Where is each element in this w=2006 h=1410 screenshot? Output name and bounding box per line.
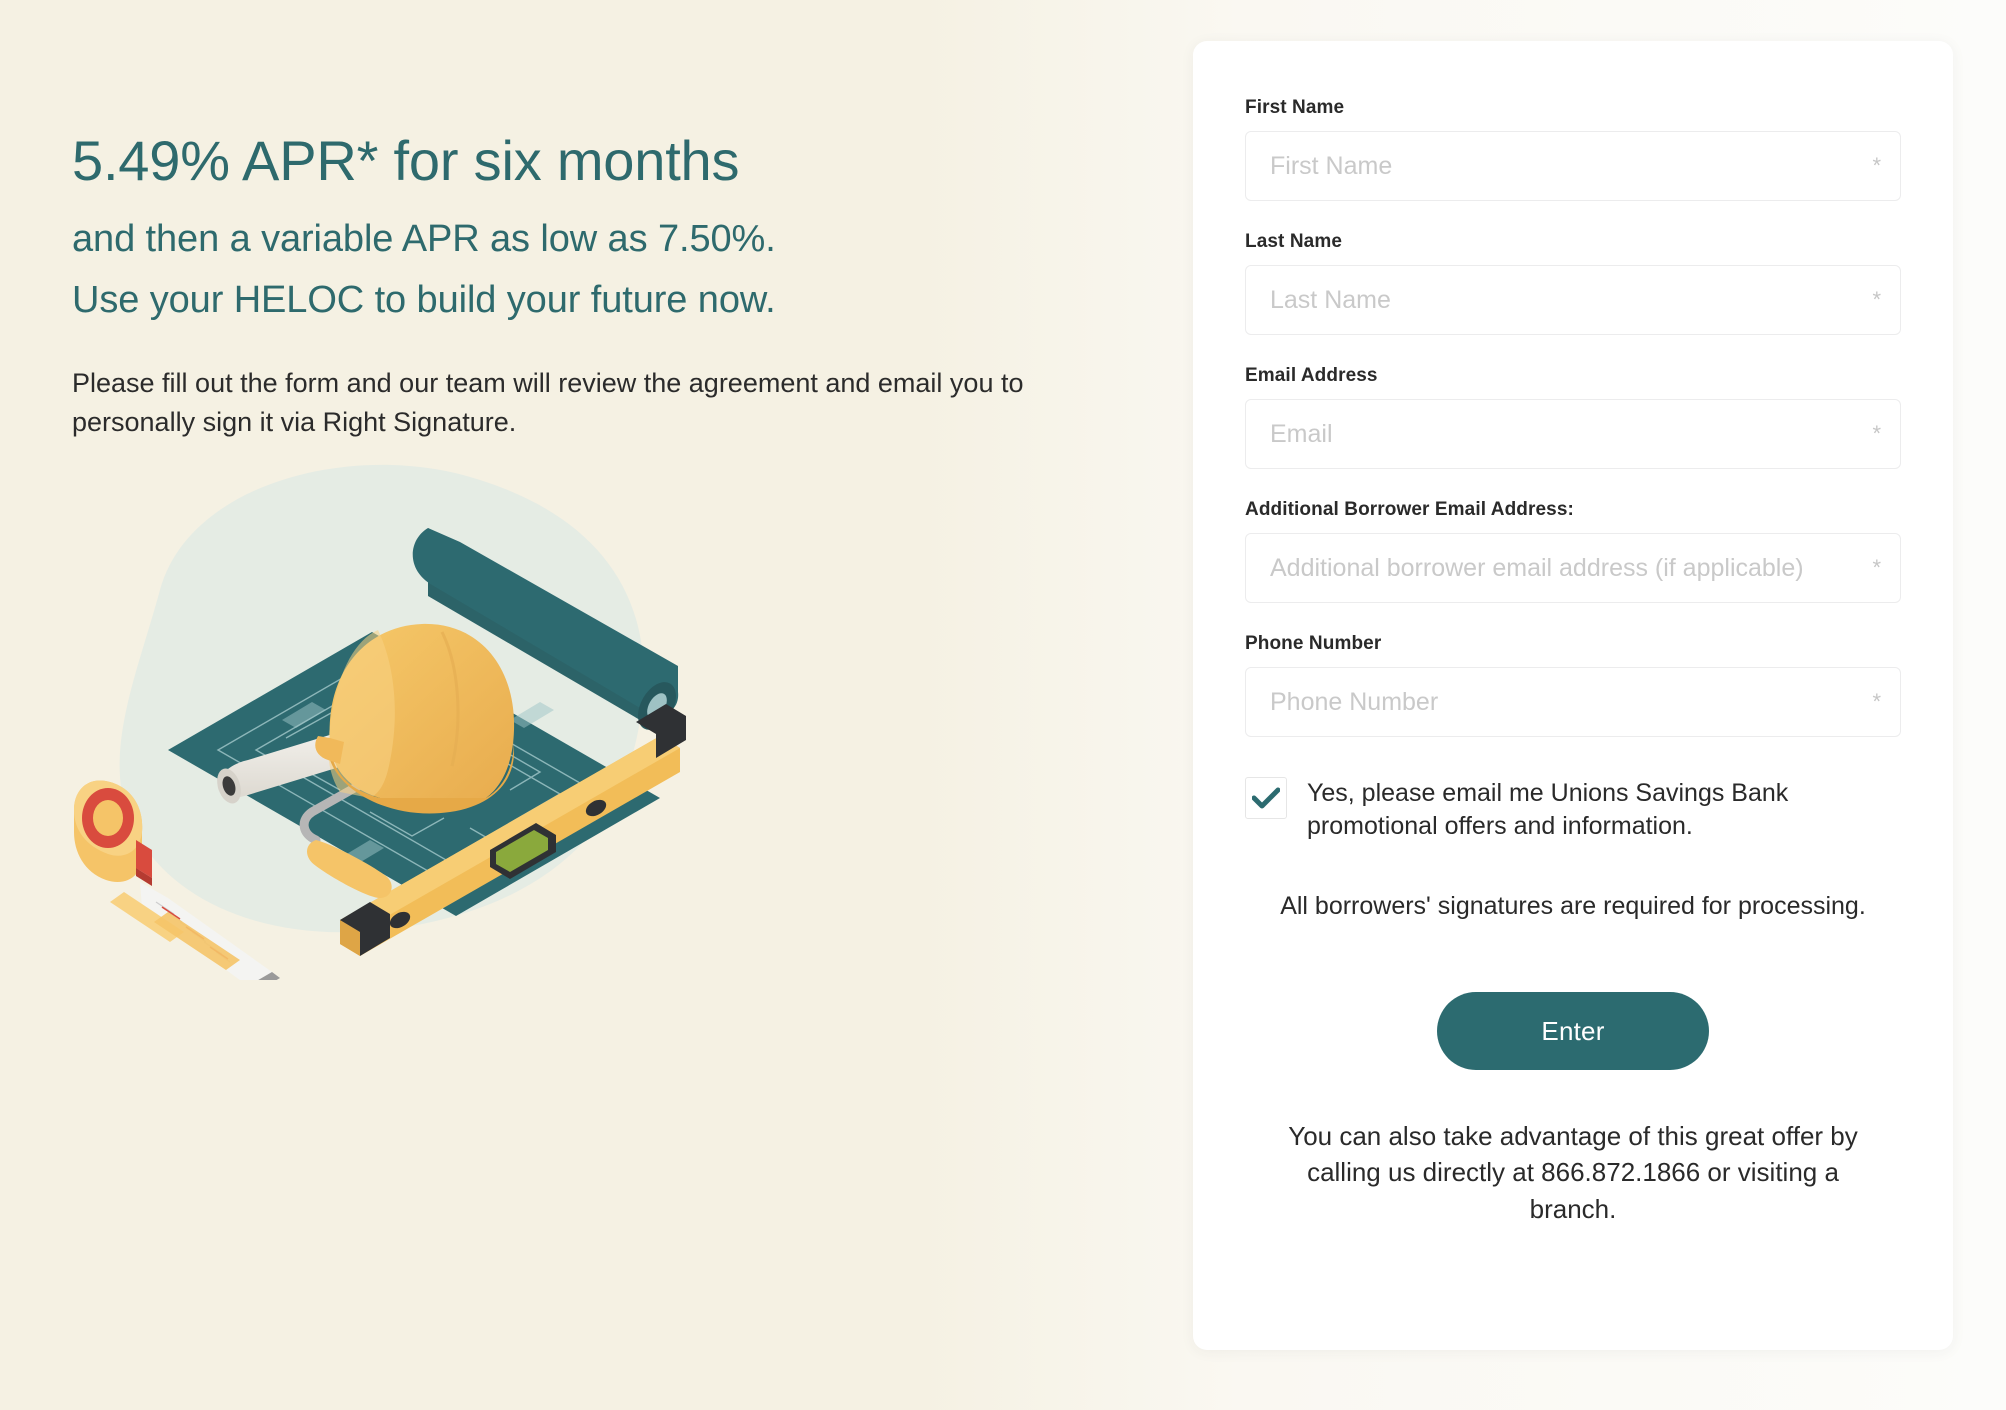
promotional-optin-row[interactable]: Yes, please email me Unions Savings Bank…: [1245, 775, 1901, 843]
lead-capture-form-card: First Name * Last Name * Email Address *: [1193, 41, 1953, 1350]
label-email: Email Address: [1245, 365, 1901, 387]
label-phone-number: Phone Number: [1245, 633, 1901, 655]
input-wrap-email: *: [1245, 399, 1901, 469]
page-title: 5.49% APR* for six months: [72, 128, 1082, 194]
last-name-input[interactable]: [1245, 265, 1901, 335]
hero-section: 5.49% APR* for six months and then a var…: [0, 0, 1190, 1410]
landing-page: 5.49% APR* for six months and then a var…: [0, 0, 2006, 1410]
construction-blueprint-illustration: [40, 420, 760, 980]
input-wrap-first-name: *: [1245, 131, 1901, 201]
phone-number-input[interactable]: [1245, 667, 1901, 737]
field-additional-borrower-email: Additional Borrower Email Address: *: [1245, 499, 1901, 603]
email-input[interactable]: [1245, 399, 1901, 469]
additional-borrower-email-input[interactable]: [1245, 533, 1901, 603]
label-first-name: First Name: [1245, 97, 1901, 119]
field-last-name: Last Name *: [1245, 231, 1901, 335]
hero-subline-rate: and then a variable APR as low as 7.50%.: [72, 210, 1082, 269]
submit-row: Enter: [1245, 992, 1901, 1070]
input-wrap-phone-number: *: [1245, 667, 1901, 737]
hero-copy: 5.49% APR* for six months and then a var…: [72, 128, 1082, 442]
first-name-input[interactable]: [1245, 131, 1901, 201]
promotional-optin-checkbox[interactable]: [1245, 777, 1287, 819]
checkmark-icon: [1252, 787, 1280, 809]
promotional-optin-label: Yes, please email me Unions Savings Bank…: [1307, 775, 1901, 843]
hero-subline-cta: Use your HELOC to build your future now.: [72, 271, 1082, 330]
field-first-name: First Name *: [1245, 97, 1901, 201]
input-wrap-additional-borrower-email: *: [1245, 533, 1901, 603]
enter-submit-button[interactable]: Enter: [1437, 992, 1709, 1070]
label-last-name: Last Name: [1245, 231, 1901, 253]
input-wrap-last-name: *: [1245, 265, 1901, 335]
call-us-footer-text: You can also take advantage of this grea…: [1245, 1118, 1901, 1227]
signature-note: All borrowers' signatures are required f…: [1245, 889, 1901, 924]
field-phone-number: Phone Number *: [1245, 633, 1901, 737]
label-additional-borrower-email: Additional Borrower Email Address:: [1245, 499, 1901, 521]
field-email: Email Address *: [1245, 365, 1901, 469]
